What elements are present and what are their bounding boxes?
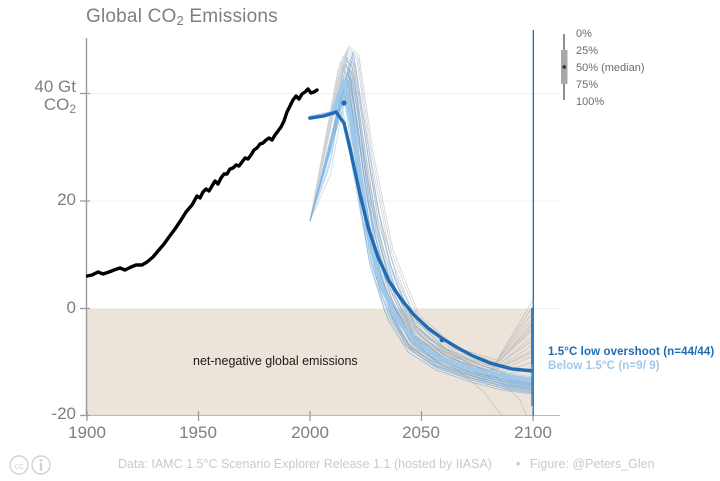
y-tick-label-40: 40 Gt CO2: [10, 78, 76, 114]
y-tick-label-40-line1: 40 Gt: [10, 78, 76, 96]
percentile-legend: 0% 25% 50% (median) 75% 100%: [556, 28, 706, 108]
creative-commons-icon: cc: [8, 454, 54, 476]
x-tick-label-1950: 1950: [158, 423, 238, 443]
svg-text:cc: cc: [15, 461, 25, 471]
y-tick-label-minus20: -20: [10, 404, 76, 424]
caption-data-source: Data: IAMC 1.5°C Scenario Explorer Relea…: [118, 457, 492, 471]
license-icons: cc: [8, 454, 54, 481]
legend-tick-25pct: 25%: [576, 46, 598, 57]
x-tick-label-2100: 2100: [493, 423, 573, 443]
series-historical-co2: [87, 89, 317, 276]
median-marker-dot: [341, 100, 346, 105]
figure-root: Global CO2 Emissions: [0, 0, 720, 480]
y-tick-label-40-line2: CO2: [10, 96, 76, 114]
x-tick-label-1900: 1900: [47, 423, 127, 443]
range-marker-2100: [531, 30, 537, 420]
series-label-low-overshoot: 1.5°C low overshoot (n=44/44): [548, 346, 714, 358]
median-marker-dot: [440, 338, 445, 343]
series-label-below-1p5: Below 1.5°C (n=9/ 9): [548, 360, 660, 372]
y-tick-label-0: 0: [10, 298, 76, 318]
legend-tick-100pct: 100%: [576, 97, 604, 108]
x-tick-label-2000: 2000: [270, 423, 350, 443]
caption-separator: •: [516, 457, 520, 471]
legend-tick-75pct: 75%: [576, 80, 598, 91]
annotation-net-negative: net-negative global emissions: [193, 354, 358, 368]
legend-tick-0pct: 0%: [576, 29, 592, 40]
y-tick-label-20: 20: [10, 190, 76, 210]
legend-tick-50pct-median: 50% (median): [576, 63, 644, 74]
caption-credit: Figure: @Peters_Glen: [530, 457, 655, 471]
x-tick-label-2050: 2050: [381, 423, 461, 443]
